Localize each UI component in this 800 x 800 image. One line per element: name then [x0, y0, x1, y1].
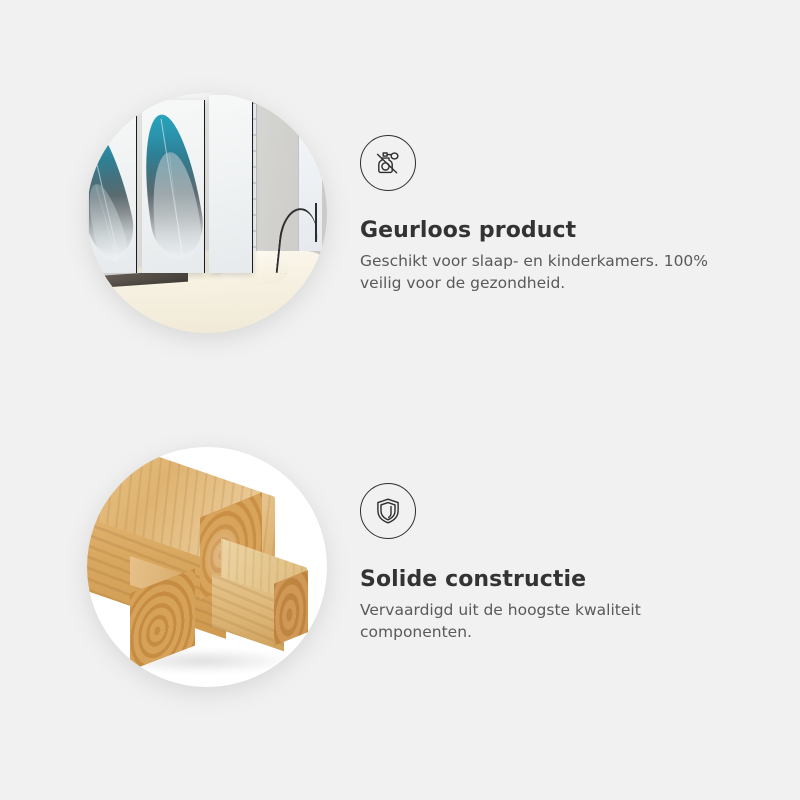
- feature-block-odourless-product: Geurloos product Geschikt voor slaap- en…: [0, 93, 800, 346]
- feature-title: Solide constructie: [360, 567, 760, 592]
- plank-end-grain: [274, 570, 308, 646]
- arc-lamp-pole: [315, 203, 317, 241]
- feature-text-column: Solide constructie Vervaardigd uit de ho…: [360, 447, 760, 644]
- feature-image-wooden-blocks: [87, 447, 327, 687]
- feature-title: Geurloos product: [360, 218, 760, 243]
- canvas-panel-1: [89, 100, 137, 273]
- feature-description: Vervaardigd uit de hoogste kwaliteit com…: [360, 599, 750, 644]
- image-clip-circle: [87, 93, 327, 333]
- no-fragrance-icon: [360, 135, 416, 191]
- shield-icon: [360, 483, 416, 539]
- canvas-panel-2: [142, 100, 204, 273]
- image-clip-circle: [87, 447, 327, 687]
- feature-block-solid-construction: Solide constructie Vervaardigd uit de ho…: [0, 447, 800, 687]
- feature-image-feather-triptych-bedroom: [87, 93, 327, 333]
- shield-glyph: [372, 495, 404, 527]
- no-fragrance-glyph: [371, 146, 405, 180]
- canvas-panel-3: [209, 95, 252, 273]
- feature-description: Geschikt voor slaap- en kinderkamers. 10…: [360, 250, 750, 295]
- feature-text-column: Geurloos product Geschikt voor slaap- en…: [360, 93, 760, 295]
- wooden-blocks-scene: [87, 447, 327, 687]
- bedroom-scene: [87, 93, 327, 333]
- product-feature-banner: Geurloos product Geschikt voor slaap- en…: [0, 0, 800, 800]
